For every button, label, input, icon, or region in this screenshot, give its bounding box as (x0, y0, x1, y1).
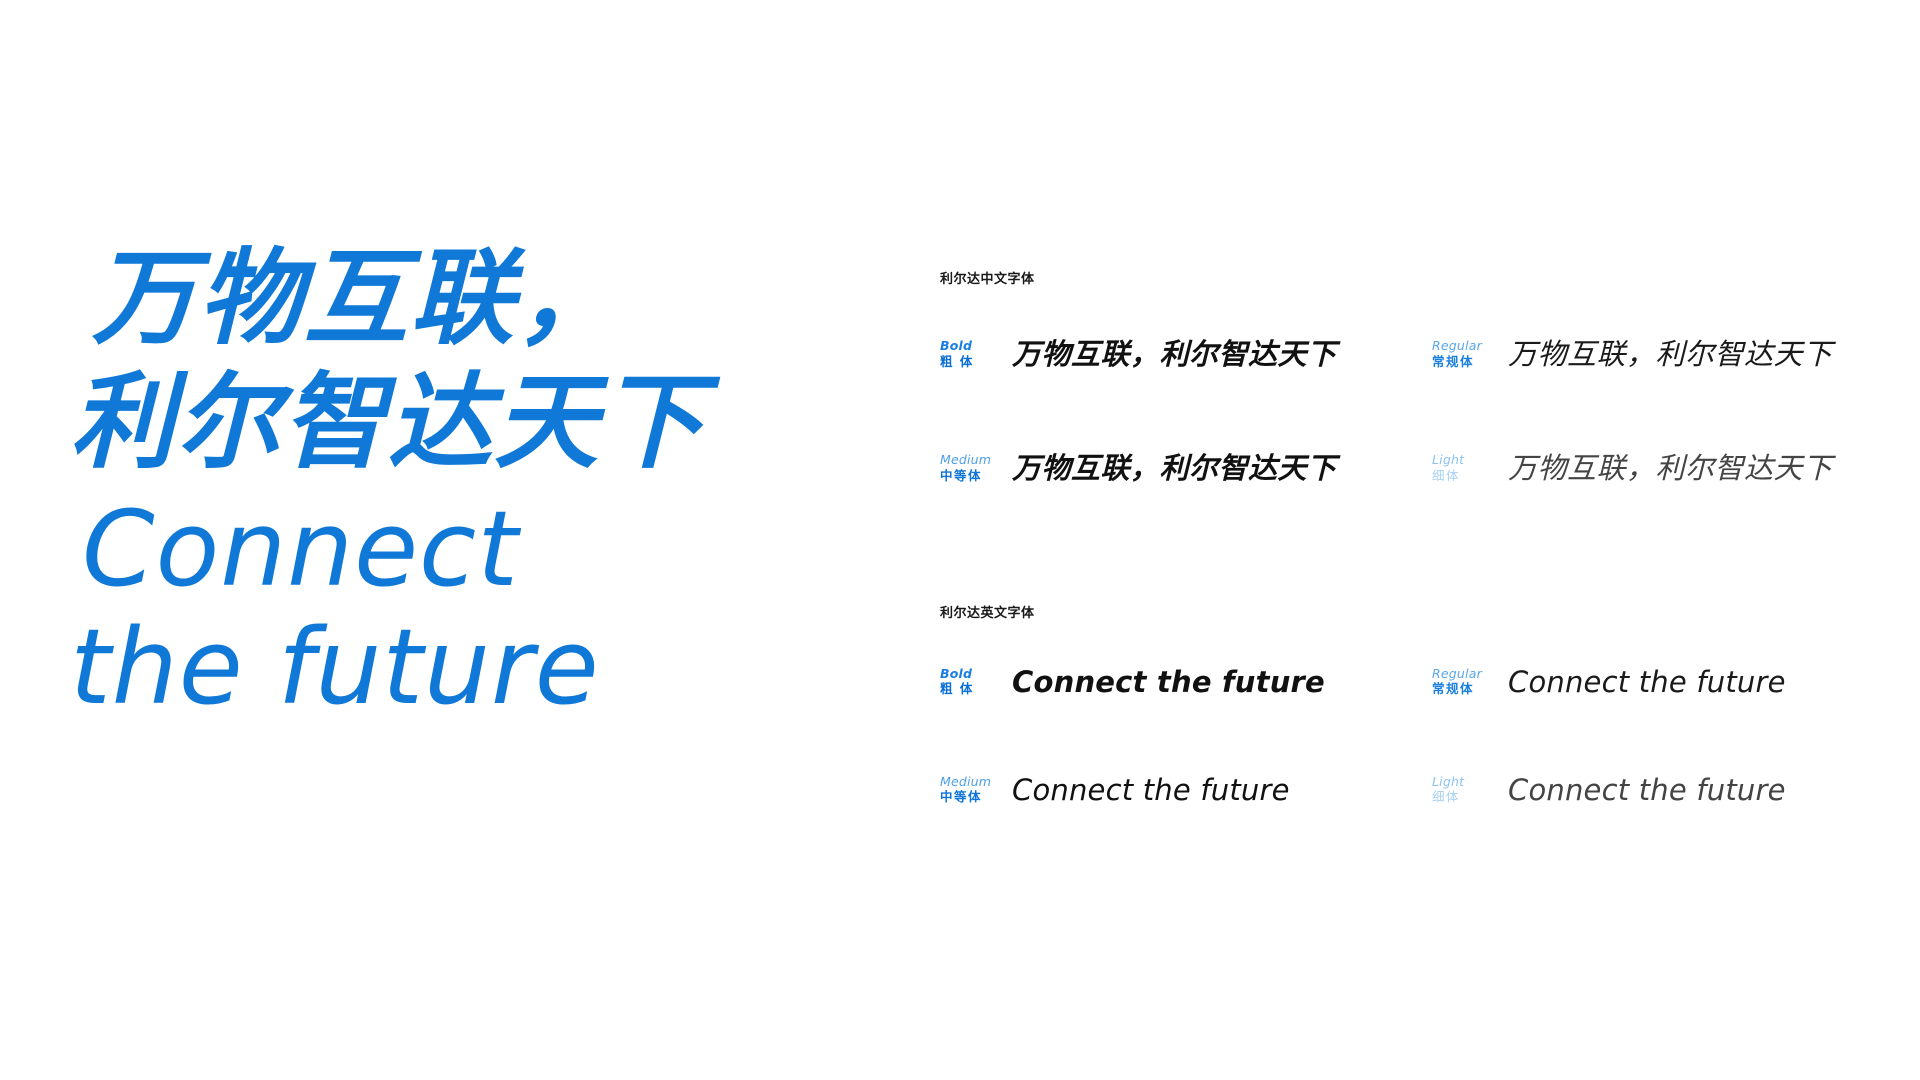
sample-text-medium: Connect the future (1012, 773, 1290, 807)
weight-label-en: Light (1432, 452, 1494, 468)
weight-label-cn: 常规体 (1432, 354, 1494, 370)
weight-label-medium: Medium 中等体 (940, 452, 1002, 483)
sample-text-medium: 万物互联，利尔智达天下 (1012, 445, 1337, 487)
weight-label-en: Medium (940, 452, 1002, 468)
weight-label-en: Regular (1432, 666, 1494, 682)
hero-lockup: 万物互联， 利尔智达天下 Connect the future (92, 236, 872, 726)
specimen-cell-bold: Bold 粗 体 万物互联，利尔智达天下 (940, 331, 1432, 383)
weight-label-cn: 细体 (1432, 468, 1494, 484)
specimen-row: Medium 中等体 万物互联，利尔智达天下 Light 细体 万物互联，利尔智… (940, 445, 1840, 497)
weight-label-cn: 常规体 (1432, 681, 1494, 697)
hero-english-line-2: the future (70, 608, 872, 726)
specimen-row: Bold 粗 体 Connect the future Regular 常规体 … (940, 665, 1840, 711)
weight-label-bold: Bold 粗 体 (940, 338, 1002, 369)
weight-label-en: Medium (940, 774, 1002, 790)
specimen-panel: 利尔达中文字体 Bold 粗 体 万物互联，利尔智达天下 Regular 常规体 (940, 268, 1840, 819)
specimen-row: Bold 粗 体 万物互联，利尔智达天下 Regular 常规体 万物互联，利尔… (940, 331, 1840, 383)
weight-label-en: Bold (940, 338, 1002, 354)
specimen-cell-regular: Regular 常规体 Connect the future (1432, 665, 1840, 711)
specimen-cell-regular: Regular 常规体 万物互联，利尔智达天下 (1432, 331, 1840, 383)
hero-english-line-1: Connect (82, 490, 872, 608)
specimen-cell-medium: Medium 中等体 万物互联，利尔智达天下 (940, 445, 1432, 497)
weight-label-bold: Bold 粗 体 (940, 666, 1002, 697)
weight-label-cn: 中等体 (940, 789, 1002, 805)
sample-text-light: Connect the future (1508, 773, 1786, 807)
section-english-typeface: 利尔达英文字体 Bold 粗 体 Connect the future Regu… (940, 602, 1840, 820)
weight-label-cn: 细体 (1432, 789, 1494, 805)
sample-text-bold: Connect the future (1012, 665, 1325, 699)
weight-label-en: Bold (940, 666, 1002, 682)
specimen-cell-light: Light 细体 Connect the future (1432, 773, 1840, 819)
specimen-cell-light: Light 细体 万物互联，利尔智达天下 (1432, 445, 1840, 497)
sample-text-light: 万物互联，利尔智达天下 (1508, 445, 1833, 487)
weight-label-cn: 中等体 (940, 468, 1002, 484)
specimen-cell-bold: Bold 粗 体 Connect the future (940, 665, 1432, 711)
specimen-row: Medium 中等体 Connect the future Light 细体 C… (940, 773, 1840, 819)
weight-label-regular: Regular 常规体 (1432, 666, 1494, 697)
hero-chinese-line-2: 利尔智达天下 (70, 360, 872, 484)
section-title-chinese: 利尔达中文字体 (940, 268, 1840, 287)
font-specimen-page: 万物互联， 利尔智达天下 Connect the future 利尔达中文字体 … (0, 0, 1920, 1080)
weight-label-regular: Regular 常规体 (1432, 338, 1494, 369)
specimen-rows-chinese: Bold 粗 体 万物互联，利尔智达天下 Regular 常规体 万物互联，利尔… (940, 331, 1840, 498)
weight-label-medium: Medium 中等体 (940, 774, 1002, 805)
specimen-cell-medium: Medium 中等体 Connect the future (940, 773, 1432, 819)
section-chinese-typeface: 利尔达中文字体 Bold 粗 体 万物互联，利尔智达天下 Regular 常规体 (940, 268, 1840, 498)
weight-label-cn: 粗 体 (940, 354, 1002, 370)
weight-label-light: Light 细体 (1432, 452, 1494, 483)
weight-label-en: Light (1432, 774, 1494, 790)
weight-label-en: Regular (1432, 338, 1494, 354)
hero-chinese-line-1: 万物互联， (92, 236, 872, 360)
sample-text-bold: 万物互联，利尔智达天下 (1012, 331, 1337, 373)
sample-text-regular: 万物互联，利尔智达天下 (1508, 331, 1833, 373)
weight-label-light: Light 细体 (1432, 774, 1494, 805)
sample-text-regular: Connect the future (1508, 665, 1786, 699)
weight-label-cn: 粗 体 (940, 681, 1002, 697)
section-title-english: 利尔达英文字体 (940, 602, 1840, 621)
specimen-rows-english: Bold 粗 体 Connect the future Regular 常规体 … (940, 665, 1840, 820)
